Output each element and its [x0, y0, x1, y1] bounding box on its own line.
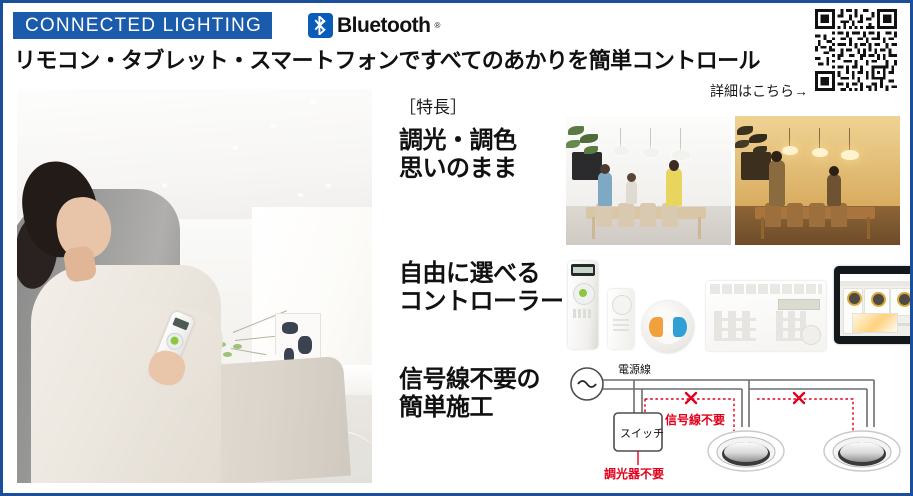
- scene-person: [666, 168, 682, 206]
- remote-lcd: [172, 317, 189, 330]
- scene-person: [598, 172, 612, 206]
- pendant-lamp: [841, 150, 859, 160]
- pendant-lamp: [782, 146, 798, 155]
- person-neck: [63, 245, 98, 283]
- dining-chair: [831, 203, 847, 227]
- downlight-2: [824, 431, 900, 471]
- feature-title-2: 自由に選べる コントローラー: [399, 260, 564, 317]
- feature-title-1-line2: 思いのまま: [399, 155, 517, 183]
- qr-code-icon[interactable]: [815, 9, 897, 91]
- pendant-cord: [650, 128, 651, 150]
- bluetooth-logo: Bluetooth ®: [308, 13, 440, 38]
- power-line-label: 電源線: [618, 361, 651, 377]
- remote-green-button: [579, 289, 587, 297]
- pendant-lamp: [672, 150, 690, 160]
- feature-title-1: 調光・調色 思いのまま: [399, 127, 517, 184]
- leaf: [749, 134, 767, 143]
- leaf: [737, 126, 753, 135]
- cross-mark-icon: [686, 393, 804, 403]
- scene-photo-pair: [566, 116, 900, 245]
- leaf: [233, 344, 242, 349]
- art-shape: [298, 336, 312, 354]
- connected-lighting-poster: CONNECTED LIGHTING Bluetooth ® リモコン・タブレッ…: [0, 0, 913, 496]
- panel-keypad-left: [714, 311, 756, 341]
- dining-chair: [618, 203, 634, 227]
- ceiling-downlight-icon: [161, 183, 168, 188]
- remote-control-with-lcd[interactable]: [568, 261, 598, 349]
- scene-person-head: [829, 166, 839, 176]
- scene-warm-light: [735, 116, 900, 245]
- dial-middle-button: [664, 321, 672, 333]
- leaf: [566, 140, 580, 148]
- scene-person-head: [771, 151, 782, 162]
- leaf: [753, 146, 767, 154]
- ceiling-downlight-icon: [297, 193, 304, 197]
- feature-title-1-line1: 調光・調色: [399, 127, 517, 155]
- small-remote-control[interactable]: [608, 289, 634, 349]
- leaf: [580, 134, 598, 143]
- qr-block: 詳細はこちら→: [808, 9, 900, 96]
- tablet-screen: [840, 274, 913, 336]
- dining-chair: [809, 203, 825, 227]
- app-brightness-slider: [898, 323, 913, 326]
- remote-keypad: [573, 309, 593, 318]
- controller-lineup: [566, 259, 902, 351]
- wall-control-panel[interactable]: [706, 281, 826, 351]
- dial-warm-segment: [649, 317, 663, 337]
- connected-lighting-banner: CONNECTED LIGHTING: [13, 12, 272, 39]
- feature-title-3: 信号線不要の 簡単施工: [399, 366, 540, 423]
- panel-nav-dial: [801, 325, 821, 345]
- banner-title: CONNECTED LIGHTING: [25, 15, 262, 37]
- dining-chair: [640, 203, 656, 227]
- scene-person: [769, 160, 785, 206]
- downlight-1: [708, 431, 784, 471]
- app-color-picker: [852, 313, 898, 333]
- pendant-cord: [849, 128, 850, 152]
- leaf: [568, 126, 584, 135]
- feature-title-2-line2: コントローラー: [399, 288, 564, 316]
- tablet-with-lighting-app[interactable]: [834, 266, 913, 344]
- pendant-cord: [819, 128, 820, 150]
- ceiling-downlight-icon: [309, 99, 318, 105]
- leaf: [584, 146, 598, 154]
- registered-mark: ®: [434, 21, 440, 30]
- wiring-diagram: 電源線 スイッチ 信号線不要 調光器不要: [566, 355, 902, 483]
- scene-person-head: [627, 173, 636, 182]
- no-dimmer-label: 調光器不要: [604, 465, 664, 482]
- dining-chair: [787, 203, 803, 227]
- pendant-cord: [680, 128, 681, 152]
- pendant-lamp: [643, 148, 659, 157]
- round-dial-controller[interactable]: [642, 301, 694, 353]
- dining-chair: [662, 203, 678, 227]
- scene-person: [827, 174, 841, 206]
- qr-caption: 詳細はこちら→: [710, 81, 808, 101]
- app-light-knob: [847, 291, 862, 306]
- dining-chair: [596, 203, 612, 227]
- panel-button-row: [710, 284, 822, 294]
- pendant-lamp: [812, 148, 828, 157]
- feature-title-3-line2: 簡単施工: [399, 394, 540, 422]
- wiring-diagram-svg: [566, 355, 902, 483]
- scene-plant: [566, 124, 612, 164]
- scene-person: [626, 180, 637, 204]
- no-signal-line-label: 信号線不要: [665, 411, 725, 428]
- bluetooth-icon: [308, 13, 333, 38]
- pendant-lamp: [613, 146, 629, 155]
- table-leg: [761, 217, 764, 239]
- ceiling-downlight-icon: [269, 123, 277, 128]
- feature-title-2-line1: 自由に選べる: [399, 260, 564, 288]
- app-tool-bar: [840, 281, 913, 286]
- small-remote-keypad: [613, 317, 629, 331]
- scene-person-head: [669, 160, 679, 171]
- subtitle: リモコン・タブレット・スマートフォンですべてのあかりを簡単コントロール: [14, 43, 760, 75]
- feature-title-3-line1: 信号線不要の: [399, 366, 540, 394]
- leaf: [223, 352, 232, 357]
- features-section-label: ［特長］: [399, 93, 467, 118]
- bluetooth-wordmark: Bluetooth: [337, 15, 430, 36]
- table-leg: [867, 217, 870, 239]
- table-leg: [592, 217, 595, 239]
- pendant-cord: [789, 128, 790, 148]
- switch-label: スイッチ: [620, 425, 664, 441]
- remote-lcd-screen: [573, 267, 593, 273]
- app-light-knob: [897, 292, 912, 307]
- panel-lcd: [778, 299, 820, 310]
- dining-chair: [765, 203, 781, 227]
- app-light-knob: [871, 292, 886, 307]
- ceiling-downlight-icon: [231, 145, 239, 150]
- scene-person-head: [600, 164, 610, 174]
- art-shape: [282, 322, 298, 334]
- scene-cool-white: [566, 116, 731, 245]
- header: CONNECTED LIGHTING Bluetooth ® リモコン・タブレッ…: [3, 3, 910, 85]
- pendant-cord: [620, 128, 621, 148]
- dial-cool-segment: [673, 317, 687, 337]
- leaf: [735, 140, 749, 148]
- ceiling-downlight-icon: [325, 183, 332, 188]
- hero-photo: [17, 89, 372, 483]
- table-leg: [698, 217, 701, 239]
- small-remote-dial: [612, 295, 632, 315]
